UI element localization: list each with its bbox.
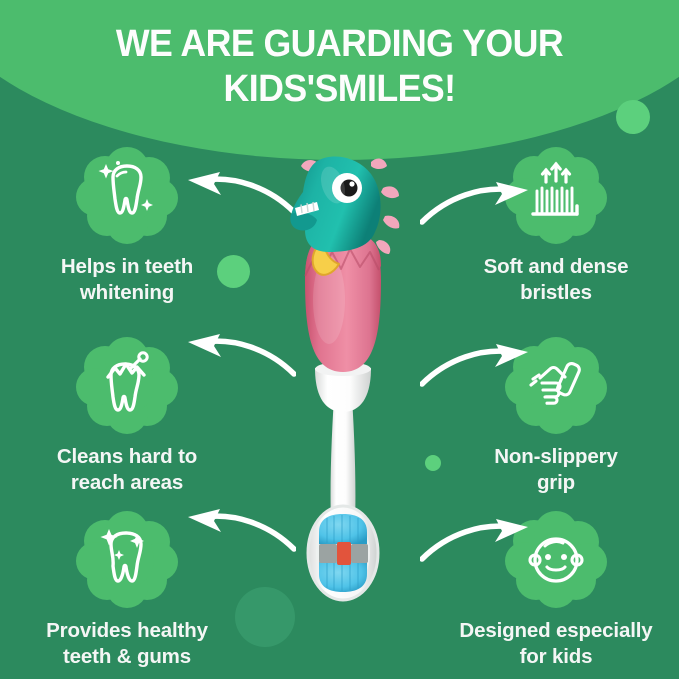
feature-caption: Provides healthy teeth & gums	[12, 618, 242, 670]
caption-line-1: Provides healthy	[18, 618, 236, 644]
feature-caption: Non-slippery grip	[441, 444, 671, 496]
healthy-tooth-icon	[73, 507, 181, 612]
feature-caption: Designed especially for kids	[441, 618, 671, 670]
caption-line-1: Non-slippery	[447, 444, 665, 470]
caption-line-2: bristles	[447, 280, 665, 306]
caption-line-2: reach areas	[18, 470, 236, 496]
feature-caption: Cleans hard to reach areas	[12, 444, 242, 496]
product-image-kids-dinosaur-toothbrush	[243, 140, 443, 630]
page-title-line-2: KIDS'SMILES!	[20, 67, 658, 112]
page-title: WE ARE GUARDING YOUR KIDS'SMILES!	[20, 22, 658, 112]
caption-line-1: Helps in teeth	[18, 254, 236, 280]
page-title-line-1: WE ARE GUARDING YOUR	[20, 22, 658, 67]
caption-line-1: Cleans hard to	[18, 444, 236, 470]
caption-line-1: Designed especially	[447, 618, 665, 644]
feature-caption: Helps in teeth whitening	[12, 254, 242, 306]
caption-line-2: whitening	[18, 280, 236, 306]
caption-line-2: for kids	[447, 644, 665, 670]
feature-caption: Soft and dense bristles	[441, 254, 671, 306]
caption-line-1: Soft and dense	[447, 254, 665, 280]
infographic-canvas: WE ARE GUARDING YOUR KIDS'SMILES!	[0, 0, 679, 679]
caption-line-2: teeth & gums	[18, 644, 236, 670]
tooth-sparkle-icon	[73, 143, 181, 248]
tooth-scrub-icon	[73, 333, 181, 438]
caption-line-2: grip	[447, 470, 665, 496]
